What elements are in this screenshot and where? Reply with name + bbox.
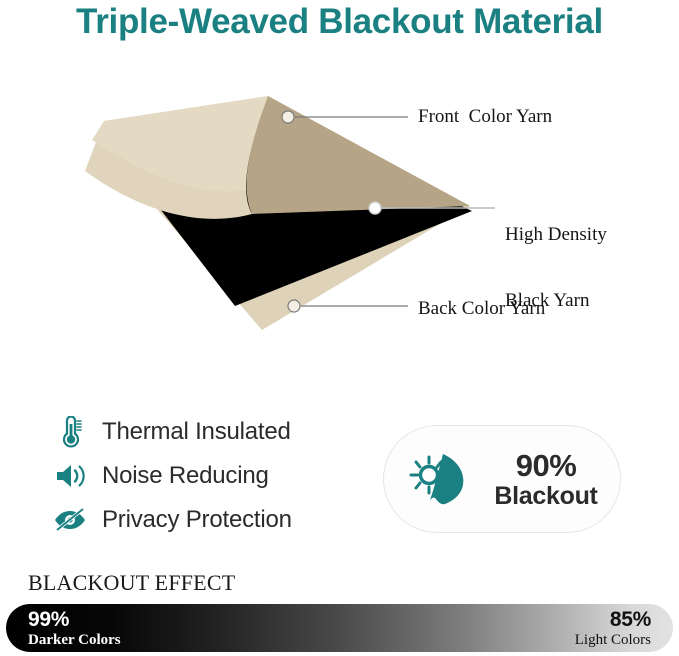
label-back-color-yarn: Back Color Yarn xyxy=(418,298,545,320)
eye-slash-icon xyxy=(52,502,88,538)
feature-label-thermal-insulated: Thermal Insulated xyxy=(102,418,291,446)
darker-colors-percent: 99% xyxy=(28,609,69,630)
feature-item-privacy-protection: Privacy Protection xyxy=(52,498,372,542)
gradient-bar-left-stat: 99% Darker Colors xyxy=(28,604,121,652)
blackout-percent: 90% xyxy=(480,449,612,482)
blackout-effect-gradient-bar: 99% Darker Colors 85% Light Colors xyxy=(6,604,673,652)
feature-label-privacy-protection: Privacy Protection xyxy=(102,506,292,534)
blackout-word: Blackout xyxy=(480,482,612,510)
blackout-badge-text: 90% Blackout xyxy=(480,449,620,510)
speaker-icon xyxy=(52,458,88,494)
light-colors-caption: Light Colors xyxy=(575,633,651,648)
label-line-1: High Density xyxy=(505,224,607,246)
sun-blocked-icon xyxy=(402,440,480,518)
thermometer-icon xyxy=(52,414,88,450)
label-front-color-yarn: Front Color Yarn xyxy=(418,106,552,128)
gradient-bar-right-stat: 85% Light Colors xyxy=(575,604,651,652)
blackout-effect-heading: BLACKOUT EFFECT xyxy=(28,570,235,596)
feature-list: Thermal Insulated Noise Reducing Privacy… xyxy=(52,410,372,542)
feature-item-noise-reducing: Noise Reducing xyxy=(52,454,372,498)
page-title: Triple-Weaved Blackout Material xyxy=(0,2,679,42)
feature-item-thermal-insulated: Thermal Insulated xyxy=(52,410,372,454)
feature-label-noise-reducing: Noise Reducing xyxy=(102,462,269,490)
blackout-badge: 90% Blackout xyxy=(383,425,621,533)
darker-colors-caption: Darker Colors xyxy=(28,633,121,648)
light-colors-percent: 85% xyxy=(610,609,651,630)
